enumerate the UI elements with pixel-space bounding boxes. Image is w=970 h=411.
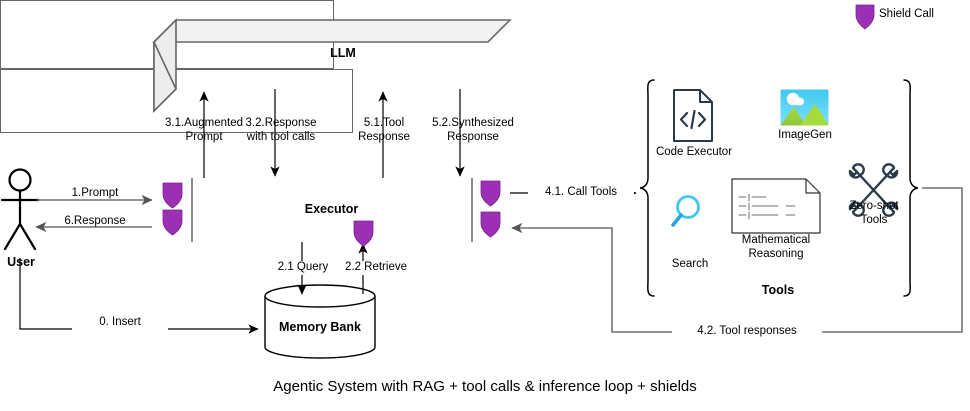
legend-shield-label: Shield Call	[879, 8, 934, 20]
memory-bank-title: Memory Bank	[258, 320, 382, 334]
edge-label-retrieve: 2.2 Retrieve	[330, 261, 422, 275]
edge-label-insert: 0. Insert	[72, 316, 168, 330]
edge-label-prompt: 1.Prompt	[52, 187, 138, 201]
user-title: User	[0, 255, 42, 269]
tool-label-imagegen: ImageGen	[765, 129, 845, 143]
tools-group-title: Tools	[718, 283, 838, 297]
image-icon	[780, 89, 829, 126]
user-actor-icon	[2, 170, 38, 250]
edge-label-synthesized-response: 5.2.Synthesized Response	[418, 117, 528, 144]
tool-label-search: Search	[656, 258, 724, 272]
tool-label-math-reasoning: Mathematical Reasoning	[722, 234, 830, 261]
tool-label-zero-shot: Zero-shot Tools	[834, 200, 914, 227]
edge-label-response: 6.Response	[48, 215, 142, 229]
tool-label-code-executor: Code Executor	[650, 146, 738, 160]
shield-icon-memory-retrieve	[354, 221, 373, 246]
edge-label-response-tool-calls: 3.2.Response with tool calls	[222, 117, 340, 144]
code-document-icon	[674, 90, 712, 141]
executor-title: Executor	[155, 202, 508, 216]
diagram-canvas: LLM Executor Memory Bank User 1.Prompt 6…	[0, 0, 970, 411]
edge-label-call-tools: 4.1. Call Tools	[528, 186, 634, 200]
magnifier-icon	[673, 197, 699, 226]
llm-title: LLM	[176, 46, 510, 60]
diagram-caption: Agentic System with RAG + tool calls & i…	[0, 378, 970, 395]
edge-label-tool-response: 5.1.Tool Response	[340, 117, 428, 144]
shield-icon-legend	[856, 5, 874, 29]
formula-document-icon	[732, 179, 820, 233]
edge-label-tool-responses: 4.2. Tool responses	[672, 325, 822, 339]
